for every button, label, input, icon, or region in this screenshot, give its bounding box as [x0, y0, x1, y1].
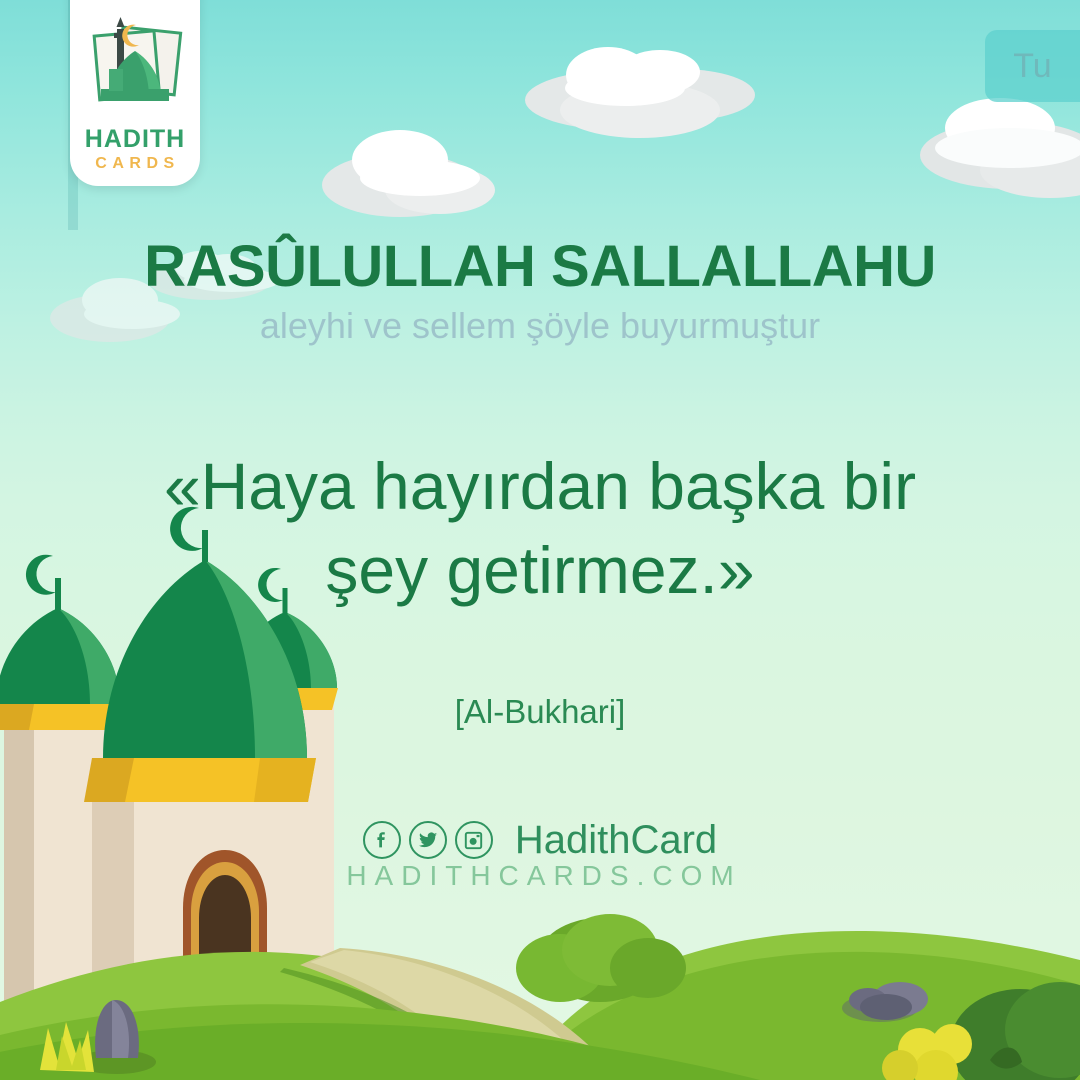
- cloud-left-small-2: [148, 251, 280, 300]
- cloud-left-upper: [322, 130, 495, 217]
- twitter-icon[interactable]: [409, 821, 447, 859]
- logo-text-hadith: HADITH: [85, 127, 185, 152]
- hadith-cards-logo-badge[interactable]: HADITH CARDS: [70, 0, 200, 186]
- brand-handle: HadithCard: [515, 820, 717, 860]
- bush-center: [516, 914, 686, 1002]
- language-badge[interactable]: Tu: [985, 30, 1080, 102]
- card-footer: HadithCard HADITHCARDS.COM: [0, 820, 1080, 890]
- site-url: HADITHCARDS.COM: [346, 862, 741, 890]
- hadith-card: HADITH CARDS Tu RASÛLULLAH SALLALLAHU al…: [0, 0, 1080, 1080]
- mosque-photo-logo-icon: [79, 11, 191, 123]
- instagram-icon[interactable]: [455, 821, 493, 859]
- facebook-icon[interactable]: [363, 821, 401, 859]
- logo-text-cards: CARDS: [95, 156, 179, 172]
- cloud-top-center: [525, 47, 755, 138]
- cloud-right-upper: [920, 98, 1080, 198]
- social-row: HadithCard: [363, 820, 717, 860]
